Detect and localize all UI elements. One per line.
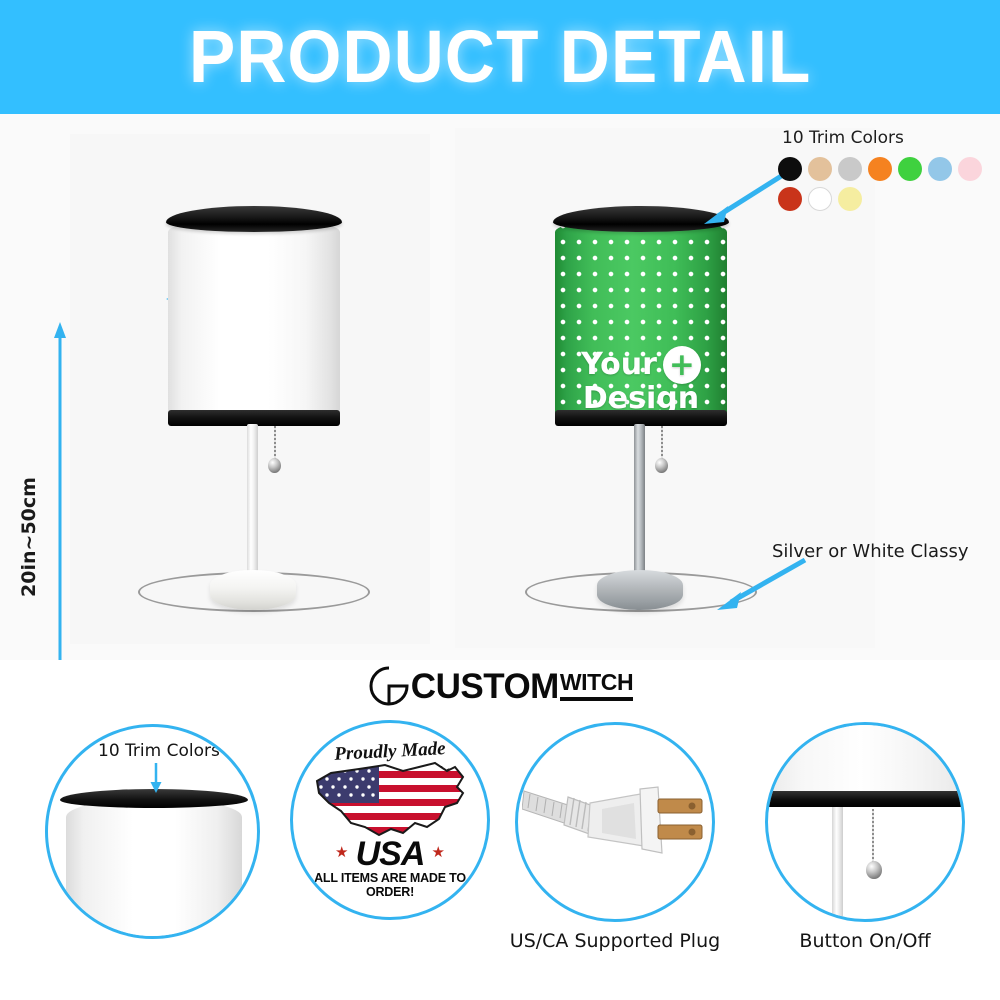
- lamp-green-shade-surface: Your + Design: [555, 218, 727, 418]
- feature-trim-colors: 10 Trim Colors: [45, 724, 265, 944]
- header-banner: PRODUCT DETAIL: [0, 0, 1000, 114]
- lamp-white-chain-ball[interactable]: [268, 458, 281, 473]
- add-design-plus-icon[interactable]: +: [663, 346, 701, 384]
- feature-button-circle: [765, 722, 965, 922]
- lamp-green-shade: Your + Design: [555, 218, 727, 418]
- feature-row: 10 Trim Colors Proudly Made in the: [0, 712, 1000, 1000]
- feature-button-shade: [765, 722, 965, 797]
- lamp-white-base: [210, 570, 296, 610]
- design-line-1: Your: [581, 350, 657, 381]
- feature-button-on-off: Button On/Off: [765, 722, 975, 932]
- feature-trim-colors-title: 10 Trim Colors: [98, 741, 220, 761]
- logo-witch-group: WITCH: [560, 671, 633, 701]
- lamp-white-shade-surface: [168, 218, 340, 418]
- your-design-placeholder[interactable]: Your + Design: [555, 346, 727, 415]
- trim-swatch-tan[interactable]: [808, 157, 832, 181]
- lamp-green-pull-chain[interactable]: [661, 426, 663, 462]
- page-title: PRODUCT DETAIL: [189, 20, 811, 94]
- feature-button-caption: Button On/Off: [755, 930, 975, 952]
- height-dimension-label: 20in~50cm: [18, 472, 40, 602]
- usa-map-flag-icon: [307, 757, 479, 843]
- trim-colors-title-top: 10 Trim Colors: [782, 128, 1000, 148]
- feature-made-in-usa: Proudly Made in the: [290, 720, 495, 925]
- logo-c-icon: [367, 664, 415, 708]
- feature-trim-colors-circle: 10 Trim Colors: [45, 724, 260, 939]
- lamp-white: [158, 200, 348, 650]
- feature-button-chain-ball[interactable]: [866, 861, 882, 879]
- lamp-white-shade: [168, 218, 340, 418]
- feature-button-pole: [832, 807, 843, 922]
- logo-underline: [560, 697, 633, 701]
- trim-swatch-yellow[interactable]: [838, 187, 862, 211]
- trim-swatch-black[interactable]: [778, 157, 802, 181]
- trim-swatch-orange[interactable]: [868, 157, 892, 181]
- silver-or-white-label: Silver or White Classy: [772, 541, 968, 562]
- base-callout-arrow: [705, 554, 815, 614]
- trim-swatch-white[interactable]: [808, 187, 832, 211]
- trim-color-swatches-top[interactable]: [778, 157, 1000, 211]
- feature-button-pull-chain[interactable]: [872, 809, 874, 865]
- feature-usa-circle: Proudly Made in the: [290, 720, 490, 920]
- trim-colors-panel-top: 10 Trim Colors: [778, 128, 1000, 211]
- trim-swatch-red[interactable]: [778, 187, 802, 211]
- brand-logo: CUSTOM WITCH: [0, 660, 1000, 712]
- feature-plug-circle: [515, 722, 715, 922]
- logo-word-witch: WITCH: [560, 671, 633, 694]
- feature-trim-arrow-icon: [149, 763, 163, 793]
- trim-swatch-gray[interactable]: [838, 157, 862, 181]
- feature-button-trim-bar: [765, 791, 965, 807]
- logo-word-custom: CUSTOM: [411, 669, 559, 704]
- trim-swatch-green[interactable]: [898, 157, 922, 181]
- trim-swatch-pink[interactable]: [958, 157, 982, 181]
- usa-badge-word: USA: [293, 835, 487, 874]
- power-plug-icon: [522, 763, 714, 883]
- lamp-white-trim-top: [166, 206, 342, 232]
- lamp-green-base: [597, 570, 683, 610]
- feature-plug: US/CA Supported Plug: [515, 722, 725, 932]
- usa-badge-subtext: ALL ITEMS ARE MADE TO ORDER!: [293, 871, 487, 899]
- lamp-white-pull-chain[interactable]: [274, 426, 276, 462]
- product-detail-page: PRODUCT DETAIL 7in~18cm 20in~50cm: [0, 0, 1000, 1000]
- lamp-green-chain-ball[interactable]: [655, 458, 668, 473]
- trim-swatch-light-blue[interactable]: [928, 157, 952, 181]
- feature-trim-shade: [66, 799, 242, 939]
- feature-plug-caption: US/CA Supported Plug: [495, 930, 735, 952]
